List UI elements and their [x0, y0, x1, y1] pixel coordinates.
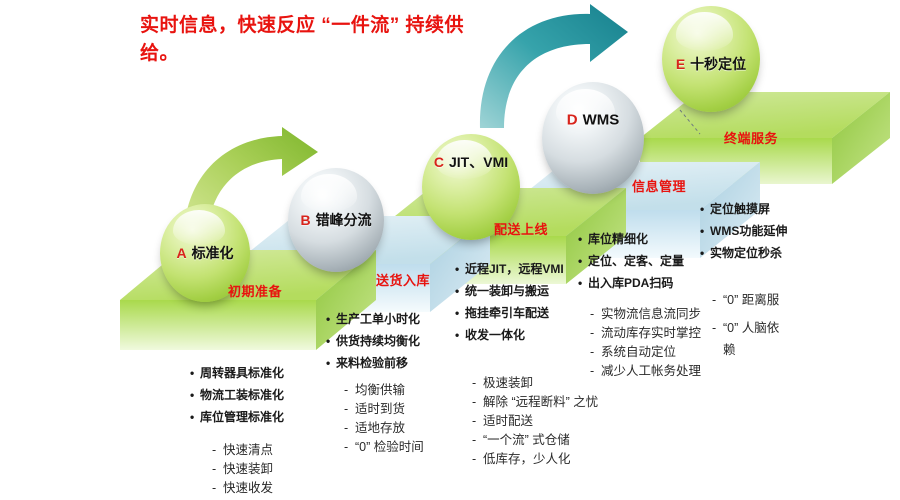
list-item: •拖挂牵引车配送	[455, 302, 564, 324]
list-item-label: 周转器具标准化	[200, 366, 284, 380]
step-caption-C: 配送上线	[494, 219, 548, 238]
list-item: 赖	[712, 341, 779, 360]
sphere-label-C: CJIT、VMI	[422, 152, 520, 172]
list-item: -适时到货	[344, 400, 424, 419]
sphere-step-D[interactable]: DWMS	[542, 82, 644, 194]
bullet-dot-icon: •	[326, 352, 336, 374]
list-item: •出入库PDA扫码	[578, 272, 684, 294]
dash-icon: -	[472, 393, 483, 412]
list-item-label: 快速清点	[223, 443, 273, 457]
list-item-label: 流动库存实时掌控	[601, 326, 701, 340]
list-item: •来料检验前移	[326, 352, 420, 374]
bullet-list-step-D: •库位精细化 •定位、定客、定量 •出入库PDA扫码	[578, 228, 684, 294]
sphere-gloss-B	[301, 174, 357, 211]
bullet-dot-icon: •	[190, 406, 200, 428]
sphere-letter-B: B	[300, 212, 310, 228]
list-item-label: 近程JIT，远程VMI	[465, 262, 564, 276]
dash-icon: -	[712, 315, 723, 341]
list-item: -实物流信息流同步	[590, 305, 701, 324]
dash-list-step-A: -快速清点 -快速装卸 -快速收发	[212, 441, 273, 498]
dash-icon: -	[472, 374, 483, 393]
sphere-label-A: A标准化	[160, 243, 250, 263]
sphere-text-C: JIT、VMI	[449, 154, 508, 170]
dash-icon: -	[344, 419, 355, 438]
step-caption-A: 初期准备	[228, 281, 282, 300]
list-item: •WMS功能延伸	[700, 220, 787, 242]
list-item-label: 极速装卸	[483, 376, 533, 390]
list-item-label: 解除 “远程断料” 之忧	[483, 395, 598, 409]
list-item: -系统自动定位	[590, 343, 701, 362]
list-item: •统一装卸与搬运	[455, 280, 564, 302]
list-item: •周转器具标准化	[190, 362, 284, 384]
list-item: -均衡供输	[344, 381, 424, 400]
list-item: -低库存，少人化	[472, 450, 598, 469]
dash-icon: -	[472, 431, 483, 450]
dash-icon: -	[590, 305, 601, 324]
sphere-step-B[interactable]: B错峰分流	[288, 168, 384, 272]
bullet-dot-icon: •	[326, 308, 336, 330]
dash-icon: -	[590, 324, 601, 343]
list-item-label: 适时配送	[483, 414, 533, 428]
dash-icon: -	[212, 479, 223, 498]
list-item: -快速装卸	[212, 460, 273, 479]
list-item: -“0” 检验时间	[344, 438, 424, 457]
dash-icon: -	[590, 343, 601, 362]
list-item-label: WMS功能延伸	[710, 224, 787, 238]
bullet-list-step-A: •周转器具标准化 •物流工装标准化 •库位管理标准化	[190, 362, 284, 428]
sphere-label-E: E十秒定位	[662, 54, 760, 74]
bullet-list-step-E: •定位触摸屏 •WMS功能延伸 •实物定位秒杀	[700, 198, 787, 264]
step-caption-D: 信息管理	[632, 176, 686, 195]
sphere-text-E: 十秒定位	[690, 56, 746, 72]
dash-icon: -	[212, 460, 223, 479]
list-item: -极速装卸	[472, 374, 598, 393]
list-item: •定位、定客、定量	[578, 250, 684, 272]
dash-icon: -	[212, 441, 223, 460]
dash-list-step-B: -均衡供输 -适时到货 -适地存放 -“0” 检验时间	[344, 381, 424, 457]
sphere-label-D: DWMS	[542, 112, 644, 129]
list-item-label: 均衡供输	[355, 383, 405, 397]
bullet-dot-icon: •	[326, 330, 336, 352]
sphere-letter-A: A	[176, 245, 186, 261]
dash-icon: -	[344, 438, 355, 457]
list-item-label: 收发一体化	[465, 328, 525, 342]
list-item: •库位管理标准化	[190, 406, 284, 428]
sphere-gloss-E	[676, 12, 733, 50]
list-item-label: “一个流” 式仓储	[483, 433, 570, 447]
sphere-text-D: WMS	[583, 112, 620, 129]
list-item: -快速收发	[212, 479, 273, 498]
sphere-gloss-A	[173, 210, 225, 245]
dash-icon: -	[472, 450, 483, 469]
list-item: -“0” 人脑依	[712, 315, 779, 341]
list-item-label: 低库存，少人化	[483, 452, 571, 466]
list-item: •生产工单小时化	[326, 308, 420, 330]
list-item-label: 赖	[723, 343, 736, 357]
list-item: -适时配送	[472, 412, 598, 431]
bullet-dot-icon: •	[455, 324, 465, 346]
bullet-list-step-B: •生产工单小时化 •供货持续均衡化 •来料检验前移	[326, 308, 420, 374]
list-item-label: 定位、定客、定量	[588, 254, 684, 268]
list-item-label: 生产工单小时化	[336, 312, 420, 326]
bullet-dot-icon: •	[578, 272, 588, 294]
list-item-label: 供货持续均衡化	[336, 334, 420, 348]
sphere-letter-C: C	[434, 154, 444, 170]
list-item-label: 来料检验前移	[336, 356, 408, 370]
bullet-list-step-C: •近程JIT，远程VMI •统一装卸与搬运 •拖挂牵引车配送 •收发一体化	[455, 258, 564, 346]
list-item-label: 实物定位秒杀	[710, 246, 782, 260]
list-item-label: 减少人工帐务处理	[601, 364, 701, 378]
sphere-letter-E: E	[676, 56, 685, 72]
step-caption-B: 送货入库	[376, 270, 430, 289]
list-item-label: 实物流信息流同步	[601, 307, 701, 321]
list-item: •物流工装标准化	[190, 384, 284, 406]
list-item-label: 物流工装标准化	[200, 388, 284, 402]
list-item-label: 系统自动定位	[601, 345, 676, 359]
leader-line-E	[678, 108, 708, 143]
bullet-dot-icon: •	[455, 280, 465, 302]
list-item-label: “0” 人脑依	[723, 321, 779, 335]
list-item: -“0” 距离服	[712, 285, 779, 315]
list-item-label: 适地存放	[355, 421, 405, 435]
list-item: •库位精细化	[578, 228, 684, 250]
list-item-label: 拖挂牵引车配送	[465, 306, 549, 320]
bullet-dot-icon: •	[700, 198, 710, 220]
dash-icon: -	[344, 400, 355, 419]
dash-icon: -	[344, 381, 355, 400]
bullet-dot-icon: •	[455, 302, 465, 324]
sphere-label-B: B错峰分流	[288, 210, 384, 230]
bullet-dot-icon: •	[578, 250, 588, 272]
dash-list-step-E: -“0” 距离服 -“0” 人脑依 赖	[712, 285, 779, 360]
list-item-label: “0” 检验时间	[355, 440, 424, 454]
bullet-dot-icon: •	[190, 362, 200, 384]
sphere-text-B: 错峰分流	[316, 212, 372, 228]
bullet-dot-icon: •	[700, 242, 710, 264]
bullet-dot-icon: •	[190, 384, 200, 406]
bullet-dot-icon: •	[455, 258, 465, 280]
sphere-step-E[interactable]: E十秒定位	[662, 6, 760, 112]
bullet-dot-icon: •	[578, 228, 588, 250]
list-item-label: 库位管理标准化	[200, 410, 284, 424]
list-item: -快速清点	[212, 441, 273, 460]
sphere-text-A: 标准化	[192, 245, 234, 261]
list-item-label: 库位精细化	[588, 232, 648, 246]
list-item-label: 出入库PDA扫码	[588, 276, 673, 290]
list-item: -流动库存实时掌控	[590, 324, 701, 343]
list-item-label: 适时到货	[355, 402, 405, 416]
list-item-label: 快速收发	[223, 481, 273, 495]
list-item: -减少人工帐务处理	[590, 362, 701, 381]
list-item-label: 快速装卸	[223, 462, 273, 476]
list-item: •近程JIT，远程VMI	[455, 258, 564, 280]
list-item: •收发一体化	[455, 324, 564, 346]
dash-list-step-D: -实物流信息流同步 -流动库存实时掌控 -系统自动定位 -减少人工帐务处理	[590, 305, 701, 381]
dash-list-step-C: -极速装卸 -解除 “远程断料” 之忧 -适时配送 -“一个流” 式仓储 -低库…	[472, 374, 598, 469]
list-item: -“一个流” 式仓储	[472, 431, 598, 450]
list-item-label: 统一装卸与搬运	[465, 284, 549, 298]
step-caption-E: 终端服务	[724, 128, 778, 147]
sphere-letter-D: D	[567, 112, 578, 129]
list-item-label: 定位触摸屏	[710, 202, 770, 216]
list-item-label: “0” 距离服	[723, 293, 779, 307]
dash-icon: -	[712, 285, 723, 315]
dash-icon: -	[590, 362, 601, 381]
list-item: •供货持续均衡化	[326, 330, 420, 352]
bullet-dot-icon: •	[700, 220, 710, 242]
diagram-canvas: 实时信息，快速反应 “一件流” 持续供 给。	[0, 0, 900, 500]
list-item: •定位触摸屏	[700, 198, 787, 220]
list-item: -适地存放	[344, 419, 424, 438]
list-item: -解除 “远程断料” 之忧	[472, 393, 598, 412]
dash-icon: -	[472, 412, 483, 431]
list-item: •实物定位秒杀	[700, 242, 787, 264]
